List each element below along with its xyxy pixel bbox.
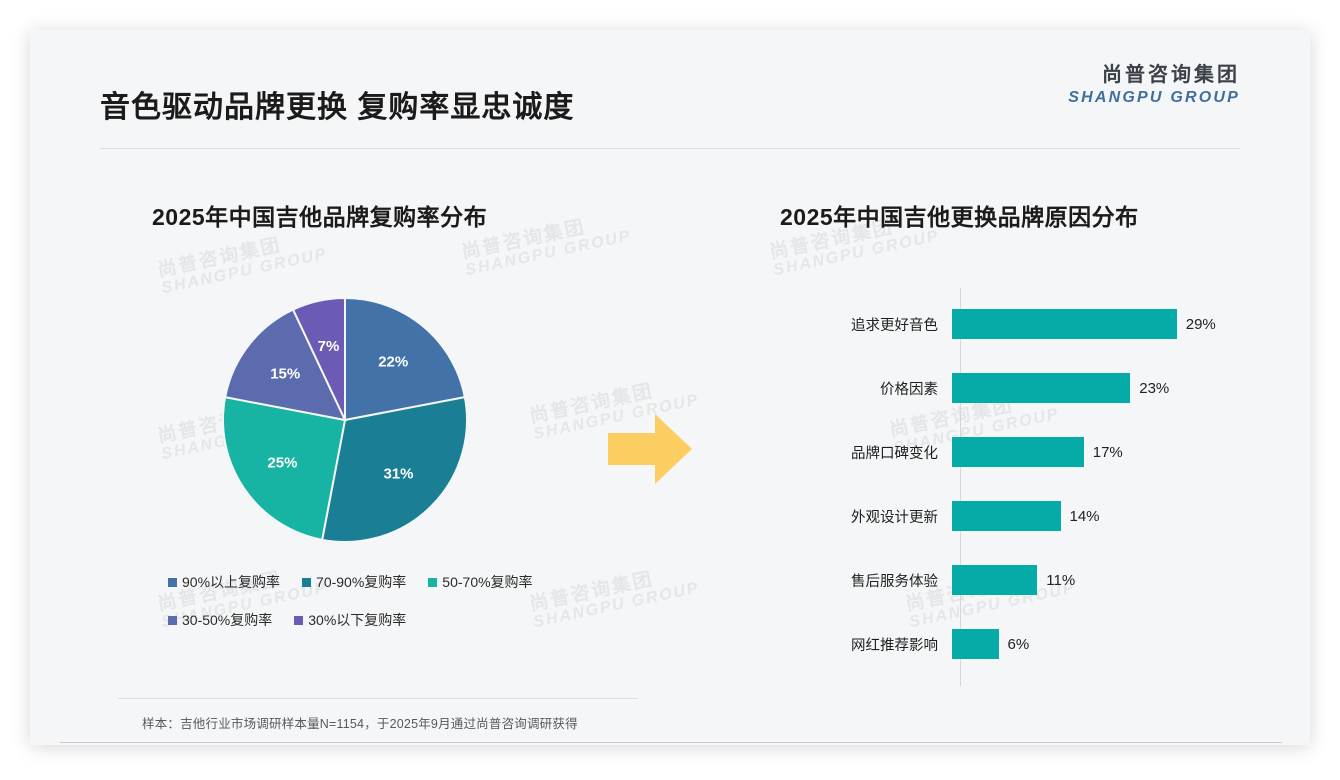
bar-category-label: 外观设计更新 [810,506,952,527]
pie-chart-title: 2025年中国吉他品牌复购率分布 [152,198,487,232]
pie-slice-label: 31% [383,465,413,482]
bar-category-label: 追求更好音色 [810,314,952,335]
legend-swatch-icon [302,578,311,587]
bar-category-label: 价格因素 [810,378,952,399]
page-title: 音色驱动品牌更换 复购率显忠诚度 [100,82,574,126]
bar-fill [952,501,1061,531]
legend-item[interactable]: 90%以上复购率 [168,572,280,592]
bar-row[interactable]: 价格因素 23% [810,370,1250,406]
legend-swatch-icon [168,616,177,625]
footer-divider [60,742,1282,743]
pie-chart-svg: 22%31%25%15%7% [220,295,470,545]
pie-legend: 90%以上复购率 70-90%复购率 50-70%复购率 30-50%复购率 3… [168,572,598,648]
bar-fill [952,629,999,659]
footnote-divider [118,698,638,699]
logo-text-en: SHANGPU GROUP [1068,88,1240,109]
legend-item[interactable]: 30-50%复购率 [168,610,272,630]
slide-canvas: 尚普咨询集团 SHANGPU GROUP 尚普咨询集团 SHANGPU GROU… [30,30,1310,745]
bar-value-label: 23% [1139,380,1169,397]
bar-row[interactable]: 外观设计更新 14% [810,498,1250,534]
legend-item[interactable]: 70-90%复购率 [302,572,406,592]
bar-value-label: 14% [1070,508,1100,525]
bar-fill [952,373,1130,403]
bar-value-label: 17% [1093,444,1123,461]
watermark-en: SHANGPU GROUP [160,246,329,298]
pie-slice-label: 15% [270,366,300,383]
watermark-en: SHANGPU GROUP [772,228,941,280]
legend-item[interactable]: 30%以下复购率 [294,610,406,630]
bar-row[interactable]: 追求更好音色 29% [810,306,1250,342]
legend-label: 70-90%复购率 [316,572,406,592]
bar-row[interactable]: 品牌口碑变化 17% [810,434,1250,470]
bar-chart: 追求更好音色 29% 价格因素 23% 品牌口碑变化 17% 外观设计更新 14… [810,288,1250,688]
bar-value-label: 29% [1186,316,1216,333]
legend-swatch-icon [294,616,303,625]
pie-slice-label: 7% [318,338,340,355]
bar-chart-title: 2025年中国吉他更换品牌原因分布 [780,198,1139,232]
logo-text-cn: 尚普咨询集团 [1068,62,1240,88]
legend-swatch-icon [168,578,177,587]
header-divider [100,148,1240,149]
footnote-text: 样本：吉他行业市场调研样本量N=1154，于2025年9月通过尚普咨询调研获得 [142,713,578,732]
legend-row: 90%以上复购率 70-90%复购率 50-70%复购率 [168,572,598,592]
legend-row: 30-50%复购率 30%以下复购率 [168,610,598,630]
watermark-en: SHANGPU GROUP [464,228,633,280]
pie-slice-label: 25% [267,455,297,472]
watermark: 尚普咨询集团 SHANGPU GROUP [156,227,329,298]
legend-label: 90%以上复购率 [182,572,280,592]
bar-category-label: 售后服务体验 [810,570,952,591]
right-arrow-icon [608,410,694,493]
slide-header: 音色驱动品牌更换 复购率显忠诚度 尚普咨询集团 SHANGPU GROUP [30,30,1310,122]
bar-row[interactable]: 售后服务体验 11% [810,562,1250,598]
company-logo: 尚普咨询集团 SHANGPU GROUP [1068,62,1240,109]
bar-fill [952,437,1084,467]
legend-swatch-icon [428,578,437,587]
bar-row[interactable]: 网红推荐影响 6% [810,626,1250,662]
bar-fill [952,309,1177,339]
legend-label: 30-50%复购率 [182,610,272,630]
legend-label: 30%以下复购率 [308,610,406,630]
bar-category-label: 品牌口碑变化 [810,442,952,463]
bar-category-label: 网红推荐影响 [810,634,952,655]
pie-slice-label: 22% [378,354,408,371]
legend-label: 50-70%复购率 [442,572,532,592]
legend-item[interactable]: 50-70%复购率 [428,572,532,592]
watermark-cn: 尚普咨询集团 [156,227,326,282]
bar-value-label: 6% [1008,636,1030,653]
bar-fill [952,565,1037,595]
bar-value-label: 11% [1046,572,1075,589]
pie-chart: 22%31%25%15%7% [220,295,470,545]
